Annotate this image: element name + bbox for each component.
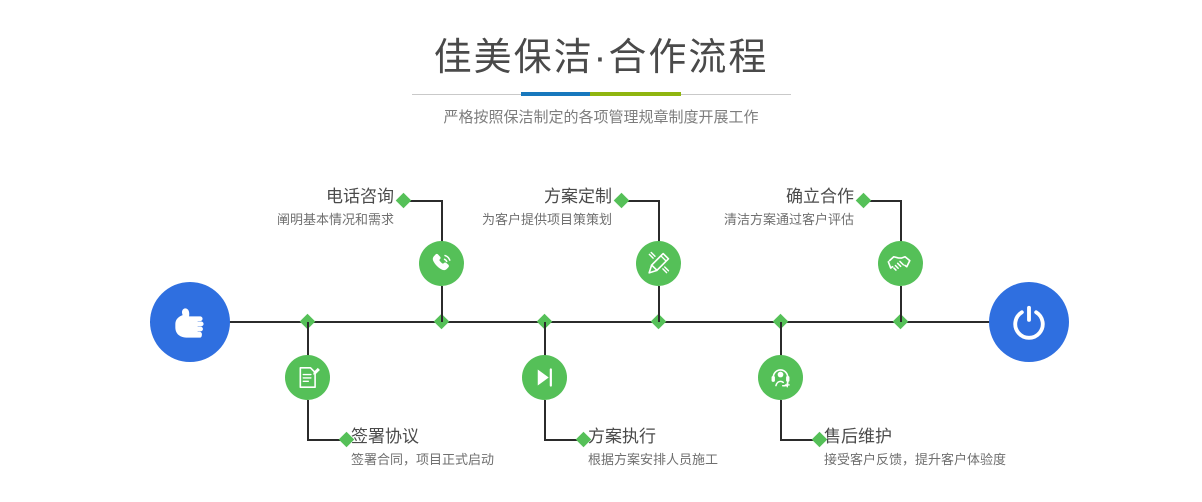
connector-node-to-axis-step-1 xyxy=(441,286,443,322)
page-subtitle: 严格按照保洁制定的各项管理规章制度开展工作 xyxy=(0,107,1202,129)
flow-end-button[interactable] xyxy=(989,282,1069,362)
handshake-icon xyxy=(887,250,914,277)
step-label-6: 售后维护 接受客户反馈，提升客户体验度 xyxy=(824,426,1154,470)
connector-node-to-axis-step-3 xyxy=(658,286,660,322)
title-divider-blue-segment xyxy=(521,92,590,96)
play-execute-icon xyxy=(531,364,558,391)
label-marker-diamond-step-5 xyxy=(856,193,872,209)
step-title-6: 售后维护 xyxy=(824,426,1154,448)
pointing-hand-icon xyxy=(168,300,212,344)
connector-vertical-step-2 xyxy=(307,400,309,440)
step-label-3: 方案定制 为客户提供项目策策划 xyxy=(370,186,612,230)
title-divider-green-segment xyxy=(590,92,681,96)
step-label-1: 电话咨询 阐明基本情况和需求 xyxy=(150,186,394,230)
customer-support-add-icon xyxy=(767,364,794,391)
connector-vertical-step-5 xyxy=(900,200,902,244)
connector-axis-to-node-step-2 xyxy=(307,322,309,356)
flow-start-button[interactable] xyxy=(150,282,230,362)
step-node-1[interactable] xyxy=(419,241,464,286)
pencil-ruler-icon xyxy=(645,250,672,277)
step-subtitle-3: 为客户提供项目策策划 xyxy=(370,210,612,230)
step-node-2[interactable] xyxy=(285,355,330,400)
power-icon xyxy=(1007,300,1051,344)
step-node-4[interactable] xyxy=(522,355,567,400)
step-subtitle-1: 阐明基本情况和需求 xyxy=(150,210,394,230)
connector-vertical-step-4 xyxy=(544,400,546,440)
process-flow-infographic: 佳美保洁·合作流程 严格按照保洁制定的各项管理规章制度开展工作 xyxy=(0,0,1202,502)
step-node-3[interactable] xyxy=(636,241,681,286)
phone-call-icon xyxy=(428,250,455,277)
step-title-1: 电话咨询 xyxy=(150,186,394,208)
step-title-5: 确立合作 xyxy=(610,186,854,208)
document-sign-icon xyxy=(294,364,321,391)
step-subtitle-5: 清洁方案通过客户评估 xyxy=(610,210,854,230)
step-label-5: 确立合作 清洁方案通过客户评估 xyxy=(610,186,854,230)
step-title-3: 方案定制 xyxy=(370,186,612,208)
step-node-5[interactable] xyxy=(878,241,923,286)
connector-node-to-axis-step-5 xyxy=(900,286,902,322)
timeline-axis xyxy=(150,321,1062,323)
connector-vertical-step-6 xyxy=(780,400,782,440)
page-title: 佳美保洁·合作流程 xyxy=(0,36,1202,80)
step-subtitle-6: 接受客户反馈，提升客户体验度 xyxy=(824,450,1154,470)
connector-axis-to-node-step-6 xyxy=(780,322,782,356)
connector-axis-to-node-step-4 xyxy=(544,322,546,356)
step-node-6[interactable] xyxy=(758,355,803,400)
